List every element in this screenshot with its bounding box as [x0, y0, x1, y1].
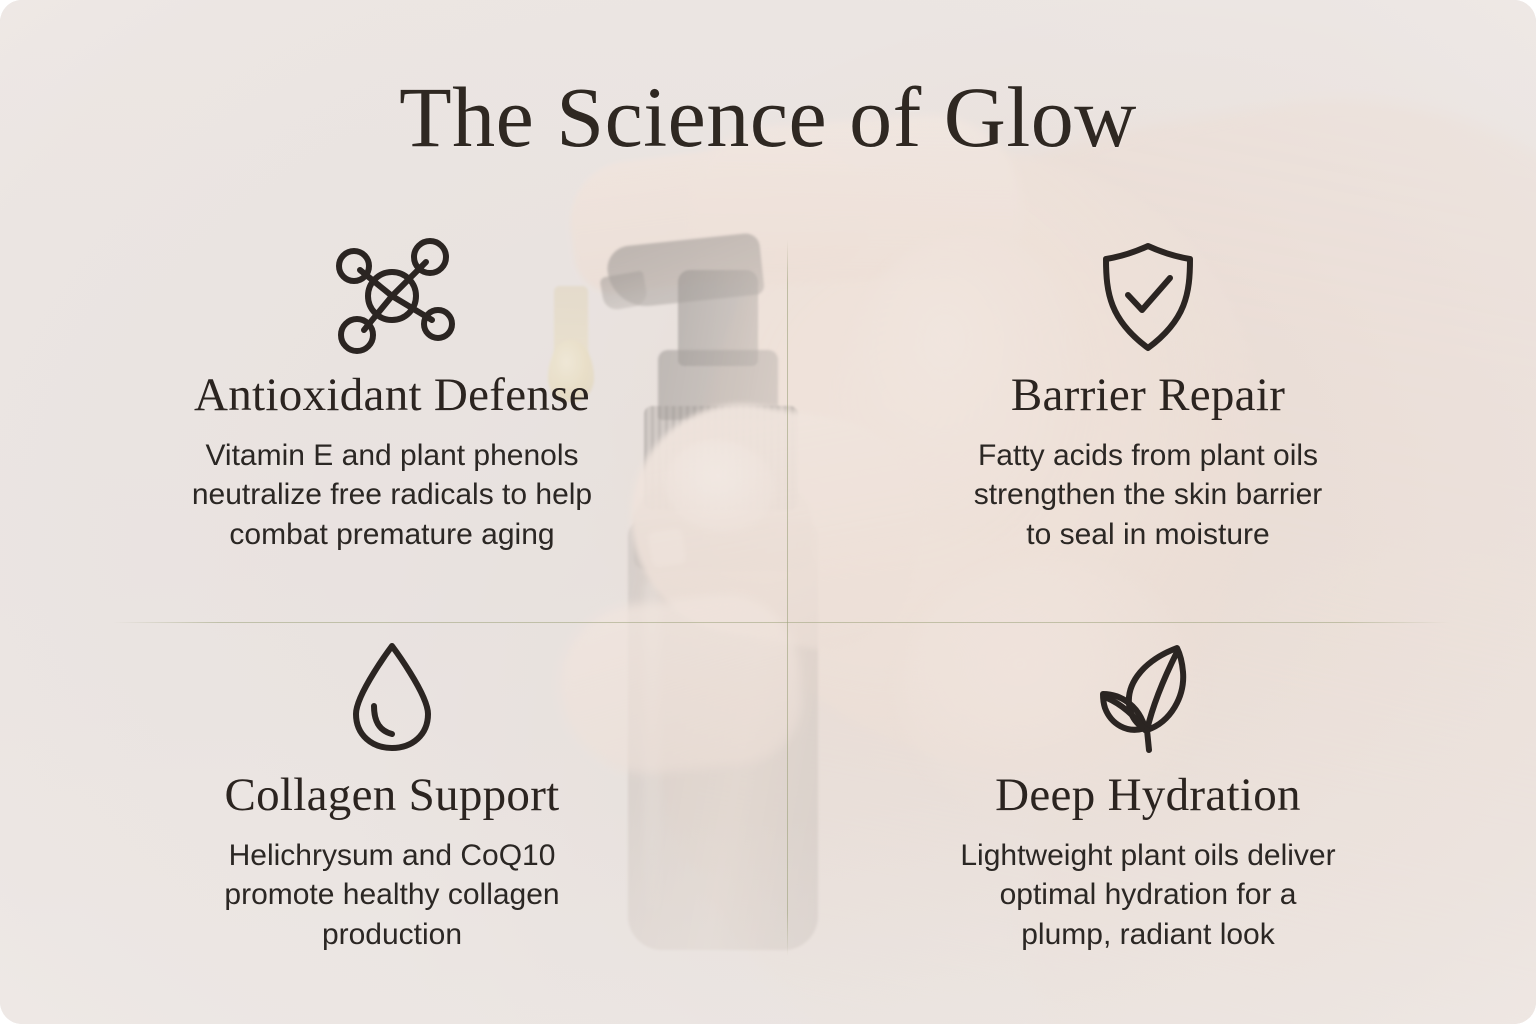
science-of-glow-infographic: The Science of Glow — [0, 0, 1536, 1024]
content-layer: The Science of Glow — [0, 0, 1536, 1024]
feature-title: Collagen Support — [72, 770, 712, 822]
feature-deep-hydration: Deep Hydration Lightweight plant oils de… — [828, 638, 1468, 954]
molecule-icon — [72, 238, 712, 356]
feature-body: Lightweight plant oils deliver optimal h… — [828, 836, 1468, 955]
feature-title: Barrier Repair — [828, 370, 1468, 422]
feature-barrier-repair: Barrier Repair Fatty acids from plant oi… — [828, 238, 1468, 554]
page-title: The Science of Glow — [0, 72, 1536, 162]
feature-collagen-support: Collagen Support Helichrysum and CoQ10 p… — [72, 638, 712, 954]
feature-body: Vitamin E and plant phenols neutralize f… — [72, 436, 712, 555]
shield-check-icon — [828, 238, 1468, 356]
feature-body: Fatty acids from plant oils strengthen t… — [828, 436, 1468, 555]
feature-title: Deep Hydration — [828, 770, 1468, 822]
feature-antioxidant-defense: Antioxidant Defense Vitamin E and plant … — [72, 238, 712, 554]
feature-body: Helichrysum and CoQ10 promote healthy co… — [72, 836, 712, 955]
water-droplet-icon — [72, 638, 712, 756]
feature-title: Antioxidant Defense — [72, 370, 712, 422]
leaf-sprout-icon — [828, 638, 1468, 756]
